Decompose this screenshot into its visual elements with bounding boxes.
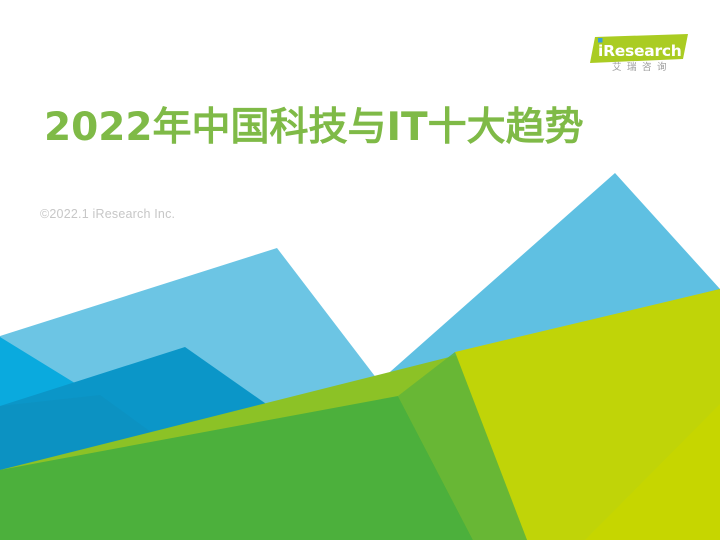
- slide-canvas: iResearch 艾瑞咨询 2022年中国科技与IT十大趋势 ©2022.1 …: [0, 0, 720, 540]
- iresearch-logo: iResearch 艾瑞咨询: [588, 34, 692, 84]
- logo-chinese-name: 艾瑞咨询: [592, 61, 692, 75]
- copyright-notice: ©2022.1 iResearch Inc.: [40, 207, 175, 221]
- page-title: 2022年中国科技与IT十大趋势: [44, 104, 584, 152]
- logo-wordmark-text: iResearch: [598, 42, 682, 60]
